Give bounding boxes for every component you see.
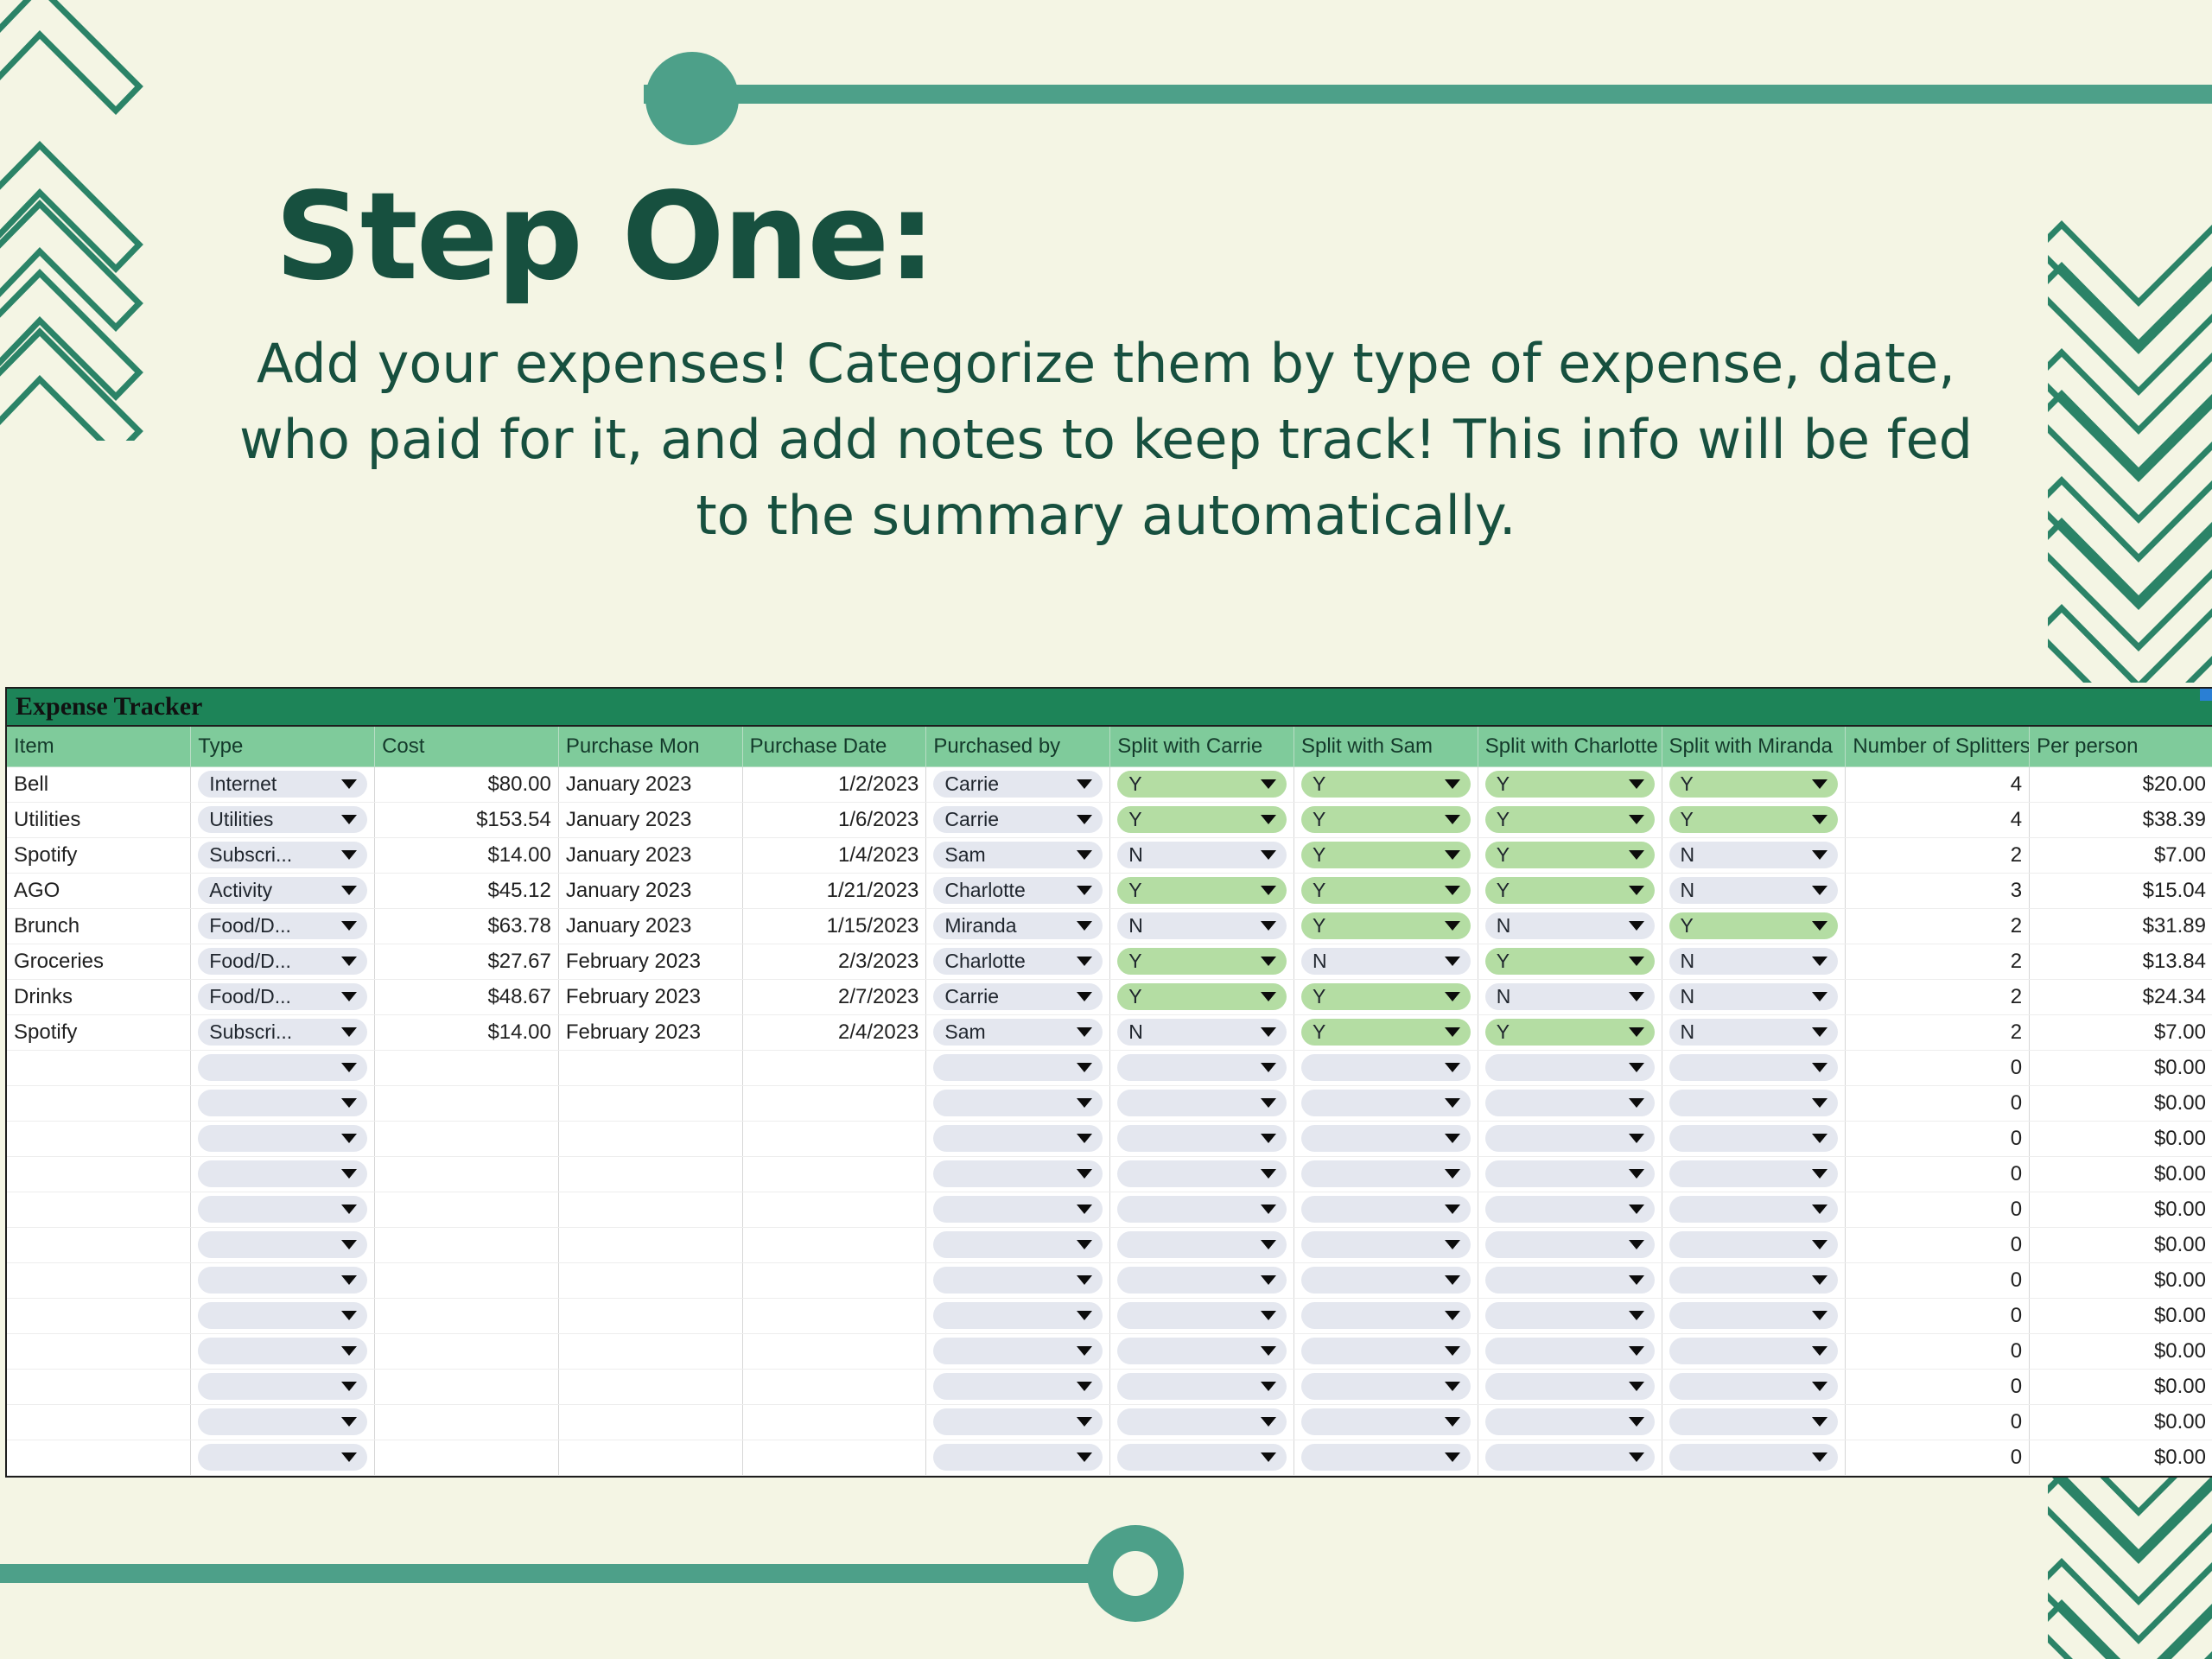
split-with-miranda-dropdown[interactable] — [1669, 1160, 1839, 1187]
type-cell — [191, 1440, 375, 1475]
type-dropdown[interactable] — [198, 1408, 367, 1435]
chevron-down-icon[interactable] — [341, 1382, 357, 1391]
split-with-carrie-dropdown[interactable] — [1117, 1408, 1287, 1435]
column-header-item[interactable]: Item — [7, 727, 191, 766]
chevron-down-icon[interactable] — [1812, 815, 1827, 824]
purchased-by-dropdown[interactable] — [933, 1408, 1103, 1435]
chevron-down-icon[interactable] — [1077, 886, 1092, 895]
chevron-down-icon[interactable] — [1445, 1063, 1460, 1072]
purchased-by-cell — [926, 1298, 1110, 1333]
chevron-down-icon[interactable] — [1812, 1311, 1827, 1320]
chevron-down-icon[interactable] — [341, 1205, 357, 1214]
split-with-miranda-dropdown[interactable] — [1669, 1267, 1839, 1294]
chevron-down-icon[interactable] — [1261, 779, 1276, 789]
chevron-down-icon[interactable] — [341, 850, 357, 860]
purchased-by-dropdown[interactable] — [933, 1444, 1103, 1471]
split-with-charlotte-dropdown[interactable]: N — [1485, 912, 1655, 939]
type-dropdown[interactable]: Food/D... — [198, 983, 367, 1010]
column-header-purchase-date[interactable]: Purchase Date — [742, 727, 926, 766]
split-with-carrie-dropdown[interactable] — [1117, 1196, 1287, 1223]
type-cell: Internet — [191, 766, 375, 802]
split-with-sam-dropdown[interactable]: N — [1301, 948, 1471, 975]
split-with-miranda-dropdown[interactable] — [1669, 1231, 1839, 1258]
chevron-down-icon[interactable] — [341, 1346, 357, 1356]
chevron-down-icon[interactable] — [341, 992, 357, 1001]
chevron-down-icon[interactable] — [1629, 1063, 1644, 1072]
split-with-sam-value: Y — [1313, 843, 1325, 867]
split-with-carrie-dropdown[interactable]: Y — [1117, 948, 1287, 975]
purchased-by-dropdown[interactable]: Miranda — [933, 912, 1103, 939]
column-header-cost[interactable]: Cost — [375, 727, 559, 766]
column-header-purchase-month[interactable]: Purchase Mon — [558, 727, 742, 766]
split-with-miranda-dropdown[interactable] — [1669, 1125, 1839, 1152]
split-with-carrie-dropdown[interactable] — [1117, 1090, 1287, 1116]
chevron-down-icon[interactable] — [1261, 1346, 1276, 1356]
split-with-sam-dropdown[interactable] — [1301, 1444, 1471, 1471]
chevron-down-icon[interactable] — [1077, 1098, 1092, 1108]
split-with-carrie-dropdown[interactable]: Y — [1117, 806, 1287, 833]
chevron-down-icon[interactable] — [341, 1134, 357, 1143]
purchased-by-dropdown[interactable]: Charlotte — [933, 877, 1103, 904]
chevron-down-icon[interactable] — [1261, 1027, 1276, 1037]
chevron-down-icon[interactable] — [1077, 992, 1092, 1001]
chevron-down-icon[interactable] — [1445, 921, 1460, 931]
chevron-down-icon[interactable] — [1629, 992, 1644, 1001]
chevron-down-icon[interactable] — [1812, 1063, 1827, 1072]
type-cell — [191, 1333, 375, 1369]
split-with-charlotte-dropdown[interactable]: Y — [1485, 771, 1655, 798]
chevron-down-icon[interactable] — [1812, 1134, 1827, 1143]
chevron-down-icon[interactable] — [341, 1417, 357, 1427]
split-with-miranda-cell — [1662, 1369, 1846, 1404]
split-with-miranda-dropdown[interactable]: Y — [1669, 771, 1839, 798]
split-with-charlotte-dropdown[interactable] — [1485, 1054, 1655, 1081]
split-with-miranda-dropdown[interactable]: N — [1669, 842, 1839, 868]
split-with-charlotte-dropdown[interactable] — [1485, 1444, 1655, 1471]
type-dropdown[interactable] — [198, 1338, 367, 1364]
chevron-down-icon[interactable] — [1445, 1346, 1460, 1356]
chevron-down-icon[interactable] — [1445, 850, 1460, 860]
table-row-empty: 0$0.00 — [7, 1050, 2212, 1085]
split-with-miranda-dropdown[interactable]: Y — [1669, 806, 1839, 833]
chevron-down-icon[interactable] — [1445, 1452, 1460, 1462]
chevron-down-icon[interactable] — [1077, 1169, 1092, 1179]
chevron-down-icon[interactable] — [1445, 992, 1460, 1001]
split-with-miranda-dropdown[interactable]: Y — [1669, 912, 1839, 939]
split-with-carrie-dropdown[interactable] — [1117, 1338, 1287, 1364]
type-dropdown[interactable]: Activity — [198, 877, 367, 904]
chevron-down-icon[interactable] — [1077, 850, 1092, 860]
type-dropdown[interactable] — [198, 1444, 367, 1471]
split-with-miranda-dropdown[interactable] — [1669, 1196, 1839, 1223]
purchase-month-cell: February 2023 — [558, 1014, 742, 1050]
chevron-down-icon[interactable] — [1077, 779, 1092, 789]
chevron-down-icon[interactable] — [1261, 1452, 1276, 1462]
split-with-charlotte-dropdown[interactable] — [1485, 1090, 1655, 1116]
split-with-miranda-dropdown[interactable]: N — [1669, 983, 1839, 1010]
split-with-miranda-dropdown[interactable] — [1669, 1373, 1839, 1400]
chevron-down-icon[interactable] — [1445, 1134, 1460, 1143]
type-value: Food/D... — [209, 950, 291, 973]
split-with-charlotte-dropdown[interactable] — [1485, 1338, 1655, 1364]
split-with-charlotte-dropdown[interactable]: Y — [1485, 842, 1655, 868]
split-with-sam-dropdown[interactable] — [1301, 1125, 1471, 1152]
split-with-charlotte-dropdown[interactable]: N — [1485, 983, 1655, 1010]
split-with-miranda-cell — [1662, 1440, 1846, 1475]
chevron-down-icon[interactable] — [1812, 957, 1827, 966]
slide-canvas: Step One: Add your expenses! Categorize … — [0, 0, 2212, 1659]
type-dropdown[interactable]: Subscri... — [198, 842, 367, 868]
split-with-charlotte-dropdown[interactable]: Y — [1485, 806, 1655, 833]
purchased-by-dropdown[interactable]: Sam — [933, 1019, 1103, 1046]
split-with-charlotte-value: Y — [1497, 772, 1510, 796]
split-with-miranda-dropdown[interactable]: N — [1669, 877, 1839, 904]
split-with-sam-dropdown[interactable] — [1301, 1408, 1471, 1435]
split-with-miranda-dropdown[interactable]: N — [1669, 1019, 1839, 1046]
split-with-miranda-dropdown[interactable] — [1669, 1302, 1839, 1329]
chevron-down-icon[interactable] — [1629, 1134, 1644, 1143]
chevron-down-icon[interactable] — [1629, 1417, 1644, 1427]
purchased-by-dropdown[interactable]: Carrie — [933, 806, 1103, 833]
chevron-down-icon[interactable] — [1629, 1346, 1644, 1356]
split-with-sam-dropdown[interactable] — [1301, 1302, 1471, 1329]
expense-table: Item Type Cost Purchase Mon Purchase Dat… — [7, 727, 2212, 1476]
type-dropdown[interactable]: Food/D... — [198, 948, 367, 975]
purchased-by-dropdown[interactable]: Charlotte — [933, 948, 1103, 975]
chevron-down-icon[interactable] — [1629, 921, 1644, 931]
chevron-down-icon[interactable] — [1077, 1382, 1092, 1391]
type-dropdown[interactable] — [198, 1090, 367, 1116]
column-header-split-with-sam[interactable]: Split with Sam — [1294, 727, 1478, 766]
chevron-down-icon[interactable] — [1261, 1098, 1276, 1108]
chevron-down-icon[interactable] — [1445, 1205, 1460, 1214]
split-with-charlotte-dropdown[interactable]: Y — [1485, 948, 1655, 975]
split-with-charlotte-dropdown[interactable]: Y — [1485, 1019, 1655, 1046]
split-with-charlotte-dropdown[interactable] — [1485, 1373, 1655, 1400]
purchase-date-cell — [742, 1404, 926, 1440]
chevron-down-icon[interactable] — [1629, 1452, 1644, 1462]
chevron-down-icon[interactable] — [1445, 1311, 1460, 1320]
chevron-down-icon[interactable] — [1261, 1134, 1276, 1143]
chevron-down-icon[interactable] — [341, 1098, 357, 1108]
number-of-splitters-cell: 0 — [1846, 1298, 2030, 1333]
split-with-charlotte-dropdown[interactable] — [1485, 1302, 1655, 1329]
chevron-down-icon[interactable] — [1445, 1098, 1460, 1108]
type-dropdown[interactable]: Subscri... — [198, 1019, 367, 1046]
chevron-down-icon[interactable] — [341, 1027, 357, 1037]
chevron-down-icon[interactable] — [1077, 1027, 1092, 1037]
split-with-charlotte-dropdown[interactable] — [1485, 1125, 1655, 1152]
number-of-splitters-cell: 0 — [1846, 1404, 2030, 1440]
split-with-sam-dropdown[interactable] — [1301, 1231, 1471, 1258]
purchased-by-cell: Charlotte — [926, 873, 1110, 908]
item-cell: Brunch — [7, 908, 191, 944]
split-with-carrie-dropdown[interactable]: Y — [1117, 983, 1287, 1010]
type-dropdown[interactable] — [198, 1231, 367, 1258]
chevron-down-icon[interactable] — [1812, 779, 1827, 789]
chevron-down-icon[interactable] — [1812, 850, 1827, 860]
chevron-down-icon[interactable] — [1445, 1275, 1460, 1285]
chevron-down-icon[interactable] — [1812, 1275, 1827, 1285]
chevron-down-icon[interactable] — [1812, 1027, 1827, 1037]
chevron-down-icon[interactable] — [341, 815, 357, 824]
chevron-down-icon[interactable] — [1629, 1169, 1644, 1179]
chevron-down-icon[interactable] — [1077, 1275, 1092, 1285]
split-with-carrie-value: Y — [1128, 950, 1141, 973]
type-cell: Food/D... — [191, 979, 375, 1014]
chevron-down-icon[interactable] — [341, 957, 357, 966]
chevron-down-icon[interactable] — [1445, 886, 1460, 895]
chevron-down-icon[interactable] — [1077, 1452, 1092, 1462]
purchased-by-value: Sam — [944, 1020, 985, 1044]
chevron-down-icon[interactable] — [1629, 886, 1644, 895]
chevron-down-icon[interactable] — [1261, 1417, 1276, 1427]
chevron-down-icon[interactable] — [1445, 1027, 1460, 1037]
split-with-sam-dropdown[interactable]: Y — [1301, 912, 1471, 939]
chevron-down-icon[interactable] — [1077, 921, 1092, 931]
column-header-split-with-charlotte[interactable]: Split with Charlotte — [1478, 727, 1662, 766]
chevron-down-icon[interactable] — [1445, 1240, 1460, 1249]
selection-handle[interactable] — [2200, 689, 2212, 701]
chevron-down-icon[interactable] — [1629, 850, 1644, 860]
cost-cell: $45.12 — [375, 873, 559, 908]
chevron-down-icon[interactable] — [1077, 1205, 1092, 1214]
purchased-by-dropdown[interactable] — [933, 1231, 1103, 1258]
chevron-down-icon[interactable] — [341, 886, 357, 895]
purchased-by-dropdown[interactable]: Carrie — [933, 771, 1103, 798]
purchased-by-dropdown[interactable] — [933, 1160, 1103, 1187]
number-of-splitters-cell: 4 — [1846, 766, 2030, 802]
chevron-down-icon[interactable] — [1445, 957, 1460, 966]
type-cell — [191, 1404, 375, 1440]
split-with-sam-dropdown[interactable]: Y — [1301, 983, 1471, 1010]
purchased-by-dropdown[interactable]: Sam — [933, 842, 1103, 868]
chevron-down-icon[interactable] — [341, 1452, 357, 1462]
split-with-sam-dropdown[interactable] — [1301, 1338, 1471, 1364]
purchased-by-dropdown[interactable]: Carrie — [933, 983, 1103, 1010]
type-cell: Utilities — [191, 802, 375, 837]
purchased-by-dropdown[interactable] — [933, 1267, 1103, 1294]
chevron-down-icon[interactable] — [1261, 850, 1276, 860]
chevron-down-icon[interactable] — [1261, 1063, 1276, 1072]
chevron-down-icon[interactable] — [1629, 957, 1644, 966]
chevron-down-icon[interactable] — [1077, 1417, 1092, 1427]
table-body: BellInternet$80.00January 20231/2/2023Ca… — [7, 766, 2212, 1475]
split-with-carrie-dropdown[interactable] — [1117, 1125, 1287, 1152]
chevron-down-icon[interactable] — [1261, 1240, 1276, 1249]
type-value: Utilities — [209, 808, 273, 831]
chevron-down-icon[interactable] — [1445, 1417, 1460, 1427]
split-with-carrie-dropdown[interactable]: N — [1117, 1019, 1287, 1046]
chevron-down-icon[interactable] — [1077, 1063, 1092, 1072]
split-with-sam-dropdown[interactable] — [1301, 1196, 1471, 1223]
split-with-miranda-dropdown[interactable] — [1669, 1338, 1839, 1364]
chevron-down-icon[interactable] — [1261, 886, 1276, 895]
type-cell — [191, 1298, 375, 1333]
chevron-down-icon[interactable] — [341, 1063, 357, 1072]
split-with-sam-dropdown[interactable] — [1301, 1054, 1471, 1081]
column-header-split-with-miranda[interactable]: Split with Miranda — [1662, 727, 1846, 766]
chevron-down-icon[interactable] — [1261, 921, 1276, 931]
purchased-by-dropdown[interactable] — [933, 1338, 1103, 1364]
split-with-miranda-dropdown[interactable] — [1669, 1444, 1839, 1471]
column-header-split-with-carrie[interactable]: Split with Carrie — [1110, 727, 1294, 766]
split-with-carrie-dropdown[interactable] — [1117, 1231, 1287, 1258]
split-with-sam-dropdown[interactable]: Y — [1301, 806, 1471, 833]
split-with-carrie-dropdown[interactable] — [1117, 1302, 1287, 1329]
split-with-sam-cell — [1294, 1262, 1478, 1298]
split-with-sam-cell — [1294, 1440, 1478, 1475]
chevron-down-icon[interactable] — [1077, 815, 1092, 824]
purchased-by-dropdown[interactable] — [933, 1054, 1103, 1081]
chevron-down-icon[interactable] — [1077, 1134, 1092, 1143]
chevron-down-icon[interactable] — [1261, 815, 1276, 824]
chevron-down-icon[interactable] — [1077, 1311, 1092, 1320]
heading-block: Step One: Add your expenses! Categorize … — [0, 177, 2212, 554]
type-dropdown[interactable] — [198, 1196, 367, 1223]
split-with-sam-dropdown[interactable] — [1301, 1160, 1471, 1187]
split-with-charlotte-dropdown[interactable] — [1485, 1408, 1655, 1435]
chevron-down-icon[interactable] — [1629, 1205, 1644, 1214]
chevron-down-icon[interactable] — [1261, 1205, 1276, 1214]
chevron-down-icon[interactable] — [1629, 1027, 1644, 1037]
purchased-by-dropdown[interactable] — [933, 1125, 1103, 1152]
chevron-down-icon[interactable] — [1077, 1346, 1092, 1356]
split-with-carrie-dropdown[interactable] — [1117, 1160, 1287, 1187]
chevron-down-icon[interactable] — [1812, 992, 1827, 1001]
split-with-carrie-dropdown[interactable] — [1117, 1444, 1287, 1471]
column-header-number-of-splitters[interactable]: Number of Splitters — [1846, 727, 2030, 766]
item-cell: Drinks — [7, 979, 191, 1014]
split-with-charlotte-dropdown[interactable] — [1485, 1267, 1655, 1294]
split-with-carrie-dropdown[interactable]: Y — [1117, 771, 1287, 798]
per-person-cell: $0.00 — [2030, 1121, 2212, 1156]
chevron-down-icon[interactable] — [1812, 921, 1827, 931]
chevron-down-icon[interactable] — [1445, 779, 1460, 789]
chevron-down-icon[interactable] — [341, 1275, 357, 1285]
type-dropdown[interactable]: Food/D... — [198, 912, 367, 939]
split-with-miranda-dropdown[interactable]: N — [1669, 948, 1839, 975]
column-header-per-person[interactable]: Per person — [2030, 727, 2212, 766]
type-dropdown[interactable]: Internet — [198, 771, 367, 798]
split-with-carrie-dropdown[interactable] — [1117, 1054, 1287, 1081]
chevron-down-icon[interactable] — [1629, 1240, 1644, 1249]
split-with-carrie-dropdown[interactable]: N — [1117, 912, 1287, 939]
type-dropdown[interactable] — [198, 1373, 367, 1400]
split-with-miranda-cell — [1662, 1298, 1846, 1333]
column-header-purchased-by[interactable]: Purchased by — [926, 727, 1110, 766]
spreadsheet-title-bar: Expense Tracker — [7, 689, 2212, 727]
split-with-miranda-dropdown[interactable] — [1669, 1090, 1839, 1116]
split-with-charlotte-dropdown[interactable] — [1485, 1231, 1655, 1258]
chevron-down-icon[interactable] — [341, 921, 357, 931]
chevron-down-icon[interactable] — [341, 1240, 357, 1249]
type-value: Activity — [209, 879, 272, 902]
chevron-down-icon[interactable] — [1261, 1275, 1276, 1285]
type-dropdown[interactable] — [198, 1125, 367, 1152]
chevron-down-icon[interactable] — [1812, 1452, 1827, 1462]
split-with-sam-dropdown[interactable]: Y — [1301, 842, 1471, 868]
number-of-splitters-cell: 0 — [1846, 1227, 2030, 1262]
split-with-carrie-cell: N — [1110, 1014, 1294, 1050]
type-cell — [191, 1192, 375, 1227]
purchase-month-cell: February 2023 — [558, 944, 742, 979]
chevron-down-icon[interactable] — [1261, 1169, 1276, 1179]
per-person-cell: $7.00 — [2030, 1014, 2212, 1050]
split-with-sam-dropdown[interactable]: Y — [1301, 877, 1471, 904]
chevron-down-icon[interactable] — [1812, 1346, 1827, 1356]
split-with-carrie-dropdown[interactable] — [1117, 1373, 1287, 1400]
chevron-down-icon[interactable] — [1261, 992, 1276, 1001]
split-with-charlotte-cell — [1478, 1050, 1662, 1085]
split-with-miranda-dropdown[interactable] — [1669, 1054, 1839, 1081]
chevron-down-icon[interactable] — [1812, 1382, 1827, 1391]
chevron-down-icon[interactable] — [1629, 1311, 1644, 1320]
chevron-down-icon[interactable] — [1077, 957, 1092, 966]
chevron-down-icon[interactable] — [1629, 1275, 1644, 1285]
split-with-sam-dropdown[interactable]: Y — [1301, 771, 1471, 798]
purchase-month-cell: January 2023 — [558, 802, 742, 837]
expense-tracker-spreadsheet[interactable]: Expense Tracker Item Type Cost Purchase … — [5, 687, 2212, 1478]
chevron-down-icon[interactable] — [1629, 779, 1644, 789]
type-dropdown[interactable]: Utilities — [198, 806, 367, 833]
column-header-type[interactable]: Type — [191, 727, 375, 766]
chevron-down-icon[interactable] — [1629, 1382, 1644, 1391]
split-with-charlotte-dropdown[interactable] — [1485, 1160, 1655, 1187]
purchased-by-dropdown[interactable] — [933, 1373, 1103, 1400]
split-with-charlotte-dropdown[interactable]: Y — [1485, 877, 1655, 904]
chevron-down-icon[interactable] — [1812, 1417, 1827, 1427]
chevron-down-icon[interactable] — [1445, 1382, 1460, 1391]
chevron-down-icon[interactable] — [1261, 957, 1276, 966]
split-with-miranda-dropdown[interactable] — [1669, 1408, 1839, 1435]
split-with-sam-dropdown[interactable] — [1301, 1373, 1471, 1400]
split-with-charlotte-dropdown[interactable] — [1485, 1196, 1655, 1223]
split-with-carrie-dropdown[interactable]: Y — [1117, 877, 1287, 904]
type-dropdown[interactable] — [198, 1302, 367, 1329]
chevron-down-icon[interactable] — [341, 1169, 357, 1179]
purchased-by-dropdown[interactable] — [933, 1090, 1103, 1116]
split-with-sam-cell — [1294, 1192, 1478, 1227]
type-dropdown[interactable] — [198, 1267, 367, 1294]
item-cell — [7, 1333, 191, 1369]
split-with-carrie-dropdown[interactable]: N — [1117, 842, 1287, 868]
type-dropdown[interactable] — [198, 1054, 367, 1081]
chevron-down-icon[interactable] — [1261, 1311, 1276, 1320]
chevron-down-icon[interactable] — [1812, 886, 1827, 895]
split-with-sam-dropdown[interactable] — [1301, 1090, 1471, 1116]
split-with-sam-dropdown[interactable] — [1301, 1267, 1471, 1294]
chevron-down-icon[interactable] — [1812, 1205, 1827, 1214]
chevron-down-icon[interactable] — [1077, 1240, 1092, 1249]
split-with-carrie-dropdown[interactable] — [1117, 1267, 1287, 1294]
type-dropdown[interactable] — [198, 1160, 367, 1187]
chevron-down-icon[interactable] — [341, 779, 357, 789]
chevron-down-icon[interactable] — [1445, 815, 1460, 824]
chevron-down-icon[interactable] — [1445, 1169, 1460, 1179]
chevron-down-icon[interactable] — [1812, 1240, 1827, 1249]
chevron-down-icon[interactable] — [341, 1311, 357, 1320]
chevron-down-icon[interactable] — [1629, 1098, 1644, 1108]
chevron-down-icon[interactable] — [1261, 1382, 1276, 1391]
purchased-by-cell — [926, 1121, 1110, 1156]
purchased-by-dropdown[interactable] — [933, 1302, 1103, 1329]
chevron-down-icon[interactable] — [1812, 1169, 1827, 1179]
chevron-down-icon[interactable] — [1812, 1098, 1827, 1108]
purchased-by-dropdown[interactable] — [933, 1196, 1103, 1223]
chevron-down-icon[interactable] — [1629, 815, 1644, 824]
split-with-sam-dropdown[interactable]: Y — [1301, 1019, 1471, 1046]
